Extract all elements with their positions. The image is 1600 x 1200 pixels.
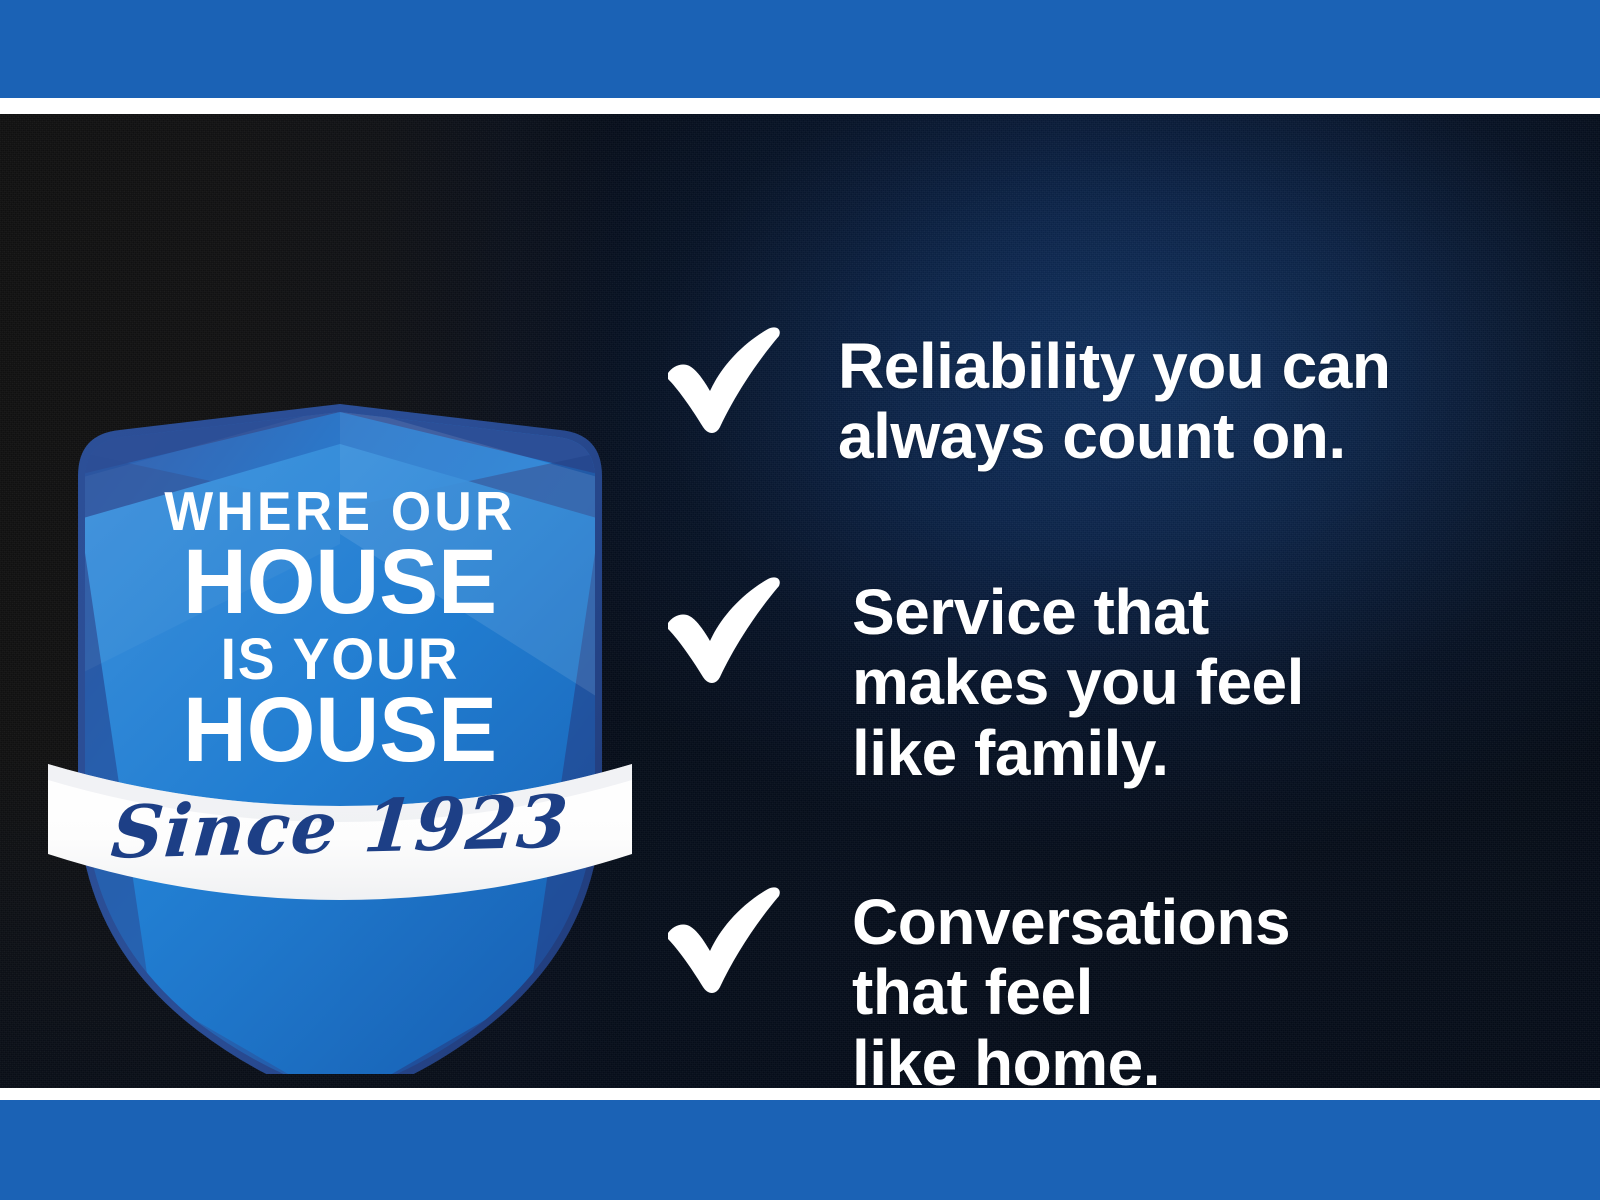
- benefit-text: Service that makes you feel like family.: [852, 573, 1304, 788]
- main-panel: WHERE OUR HOUSE IS YOUR HOUSE Since 1923…: [0, 114, 1600, 1088]
- shield-top-shadow: [40, 294, 640, 412]
- benefit-text: Conversations that feel like home.: [852, 883, 1290, 1088]
- bottom-brand-bar: [0, 1100, 1600, 1200]
- checkmark-icon: [660, 323, 790, 438]
- benefits-list: Reliability you can always count on. Ser…: [660, 228, 1560, 1088]
- checkmark-icon: [660, 573, 790, 688]
- benefit-item: Service that makes you feel like family.: [660, 573, 1304, 788]
- benefit-item: Conversations that feel like home.: [660, 883, 1290, 1088]
- top-brand-bar: [0, 0, 1600, 98]
- shield-badge-icon: [40, 294, 640, 1074]
- benefit-item: Reliability you can always count on.: [660, 323, 1390, 472]
- promo-graphic: WHERE OUR HOUSE IS YOUR HOUSE Since 1923…: [0, 0, 1600, 1200]
- benefit-text: Reliability you can always count on.: [838, 323, 1390, 472]
- shield-logo: WHERE OUR HOUSE IS YOUR HOUSE Since 1923: [40, 294, 640, 1074]
- checkmark-icon: [660, 883, 790, 998]
